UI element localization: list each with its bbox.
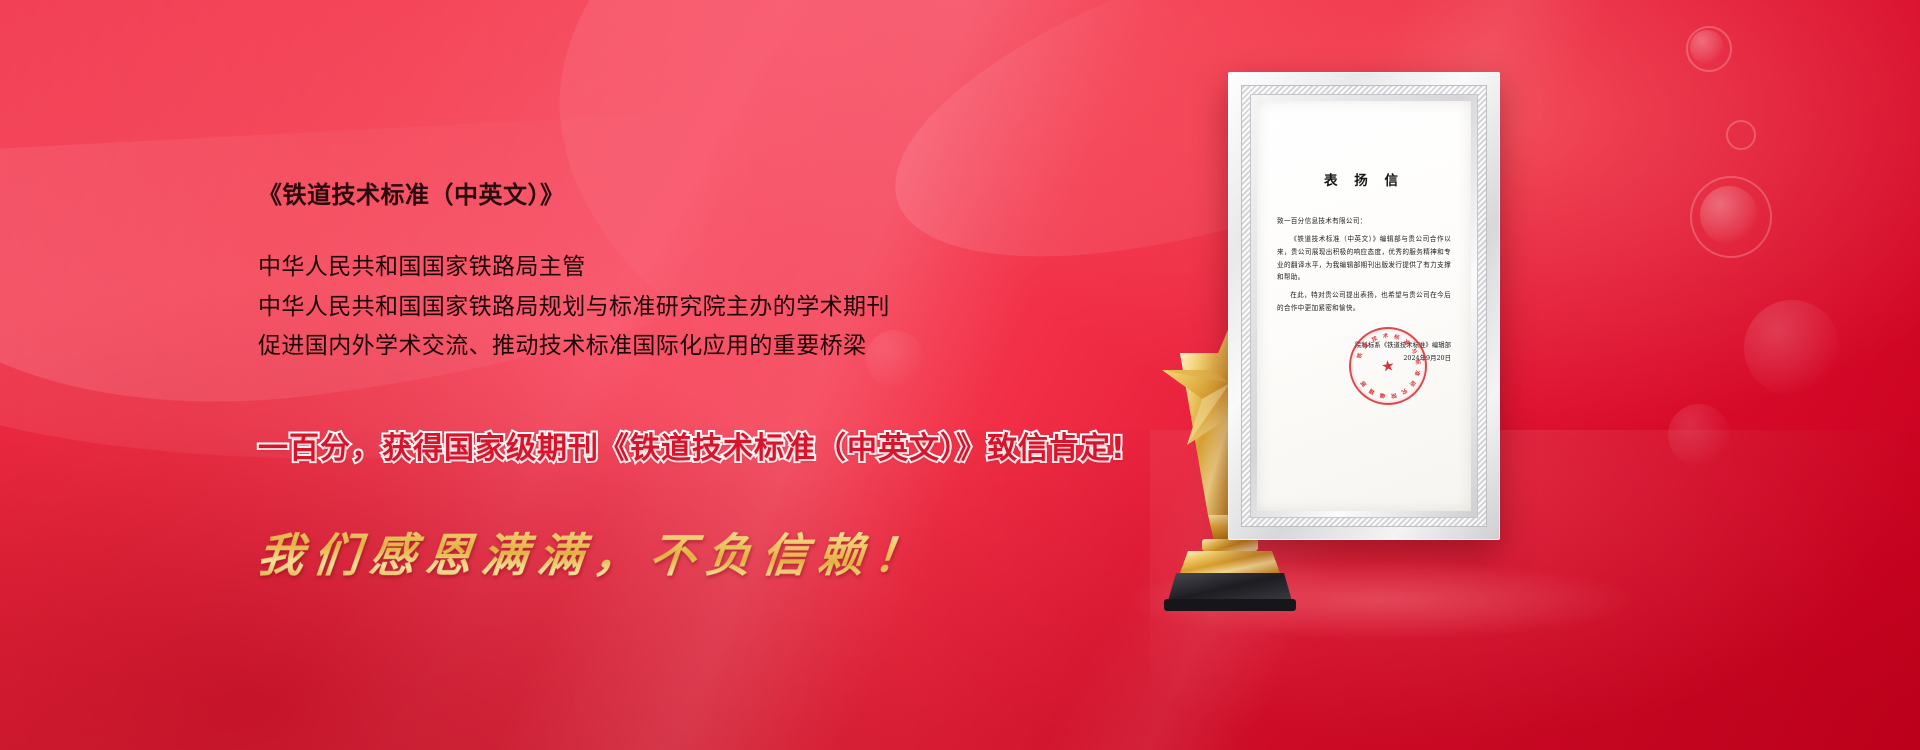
- bokeh-dot-4: [1744, 300, 1840, 396]
- certificate-salutation: 致一百分信息技术有限公司：: [1277, 215, 1451, 228]
- bokeh-dot-1: [1690, 30, 1724, 64]
- certificate-body: 致一百分信息技术有限公司： 《铁道技术标准（中英文）》编辑部与贵公司合作以来，贵…: [1277, 215, 1451, 315]
- certificate-signature-block: ★ 铁道技术标准与标准研究院编辑部 院科标系《铁道技术标准》编辑部 2024年9…: [1277, 339, 1451, 365]
- seal-ring-text: 铁道技术标准与标准研究院编辑部: [1346, 324, 1430, 408]
- certificate-title: 表 扬 信: [1277, 169, 1451, 189]
- certificate-paper: 表 扬 信 致一百分信息技术有限公司： 《铁道技术标准（中英文）》编辑部与贵公司…: [1257, 101, 1471, 511]
- subtitle-line-3: 促进国内外学术交流、推动技术标准国际化应用的重要桥梁: [258, 327, 1178, 367]
- certificate-frame-bevel: 表 扬 信 致一百分信息技术有限公司： 《铁道技术标准（中英文）》编辑部与贵公司…: [1241, 85, 1487, 527]
- certificate-frame: 表 扬 信 致一百分信息技术有限公司： 《铁道技术标准（中英文）》编辑部与贵公司…: [1228, 72, 1500, 540]
- certificate-frame-inner-bevel: 表 扬 信 致一百分信息技术有限公司： 《铁道技术标准（中英文）》编辑部与贵公司…: [1250, 94, 1478, 518]
- bokeh-dot-3: [1700, 186, 1758, 244]
- headline: 一百分，获得国家级期刊《铁道技术标准（中英文）》致信肯定!: [258, 423, 1178, 467]
- calligraphy-slogan: 我们感恩满满，不负信赖！: [255, 519, 934, 585]
- bokeh-dot-5: [1668, 404, 1730, 466]
- seal-stamp-icon: ★ 铁道技术标准与标准研究院编辑部: [1344, 322, 1432, 410]
- bokeh-ring-1: [1686, 26, 1732, 72]
- certificate-paragraph-1: 《铁道技术标准（中英文）》编辑部与贵公司合作以来，贵公司展现出积极的响应态度，优…: [1277, 233, 1451, 284]
- journal-title: 《铁道技术标准（中英文）》: [258, 175, 1178, 210]
- bokeh-ring-3: [1690, 176, 1772, 258]
- bokeh-ring-2: [1726, 120, 1756, 150]
- text-column: 《铁道技术标准（中英文）》 中华人民共和国国家铁路局主管 中华人民共和国国家铁路…: [258, 175, 1178, 585]
- subtitle-line-1: 中华人民共和国国家铁路局主管: [258, 248, 1178, 288]
- promo-banner: 《铁道技术标准（中英文）》 中华人民共和国国家铁路局主管 中华人民共和国国家铁路…: [0, 0, 1920, 750]
- certificate-paragraph-2: 在此，特对贵公司提出表扬，也希望与贵公司在今后的合作中更加紧密和愉快。: [1277, 289, 1451, 315]
- subtitle-line-2: 中华人民共和国国家铁路局规划与标准研究院主办的学术期刊: [258, 288, 1178, 328]
